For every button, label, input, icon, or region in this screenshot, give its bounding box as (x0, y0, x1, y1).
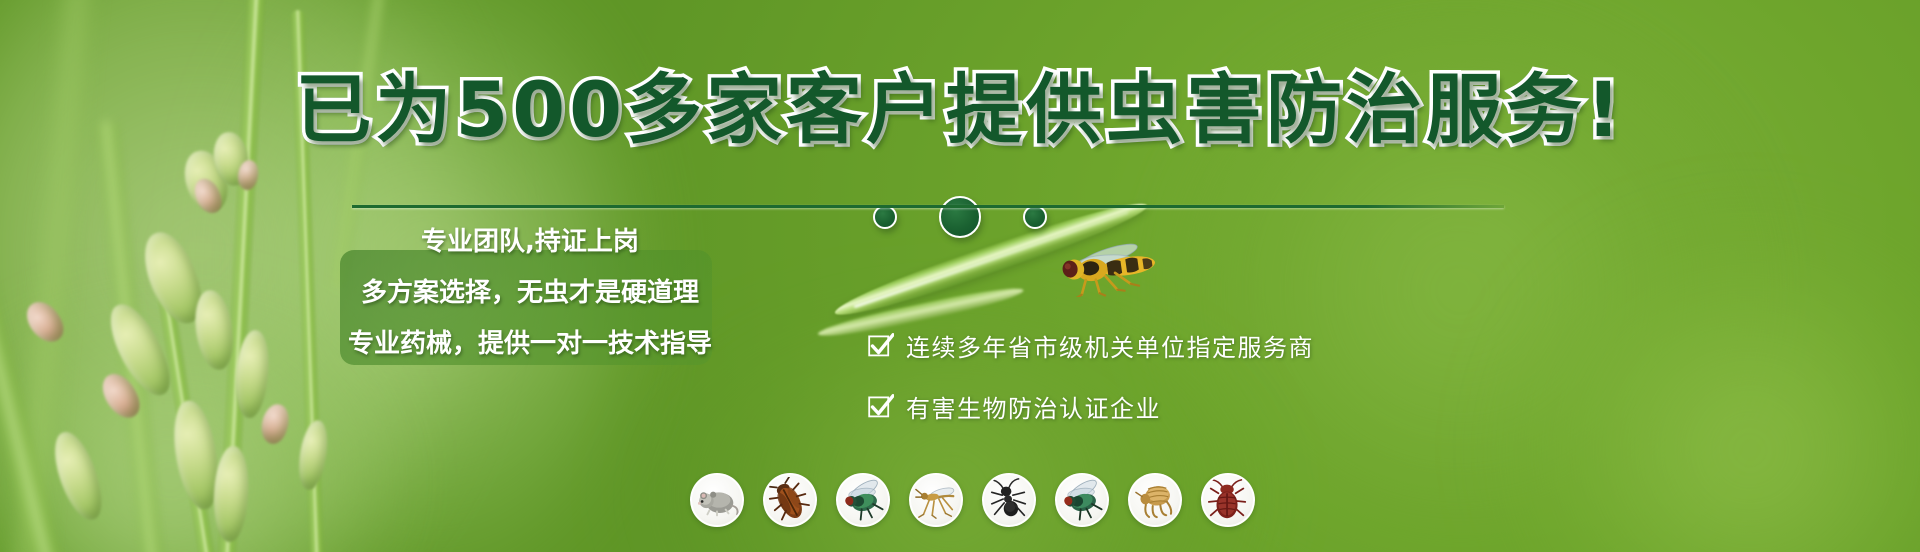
decorative-dot-small-right (1023, 205, 1047, 229)
credential-label: 连续多年省市级机关单位指定服务商 (906, 328, 1314, 363)
promo-line-3: 专业药械，提供一对一技术指导 (348, 323, 712, 360)
flea-icon[interactable] (1128, 473, 1182, 527)
promo-line-2: 多方案选择，无虫才是硬道理 (361, 272, 699, 309)
page-title: 已为500多家客户提供虫害防治服务! (0, 72, 1920, 148)
decorative-dot-large-center (939, 196, 981, 238)
promo-line-1: 专业团队,持证上岗 (421, 221, 639, 258)
credential-item: 连续多年省市级机关单位指定服务商 (868, 328, 1314, 363)
blowfly-icon[interactable] (1055, 473, 1109, 527)
fly-icon[interactable] (836, 473, 890, 527)
decorative-dots (0, 196, 1920, 238)
hoverfly-icon (1045, 243, 1170, 297)
mosquito-icon[interactable] (909, 473, 963, 527)
credential-item: 有害生物防治认证企业 (868, 389, 1314, 424)
pest-icon-row (690, 473, 1255, 527)
credentials-list: 连续多年省市级机关单位指定服务商 有害生物防治认证企业 (868, 328, 1314, 424)
headline-text: 已为500多家客户提供虫害防治服务! (295, 72, 1624, 148)
credential-label: 有害生物防治认证企业 (906, 389, 1161, 424)
ant-icon[interactable] (982, 473, 1036, 527)
pest-control-hero-banner: 已为500多家客户提供虫害防治服务! 专业团队,持证上岗 多方案选择，无虫才是硬… (0, 0, 1920, 552)
checkbox-checked-icon (868, 394, 894, 420)
divider (352, 205, 1504, 208)
decorative-dot-small-left (873, 205, 897, 229)
checkbox-checked-icon (868, 333, 894, 359)
rat-icon[interactable] (690, 473, 744, 527)
promo-text-group: 专业团队,持证上岗 多方案选择，无虫才是硬道理 专业药械，提供一对一技术指导 (335, 215, 725, 360)
cockroach-icon[interactable] (763, 473, 817, 527)
bedbug-icon[interactable] (1201, 473, 1255, 527)
